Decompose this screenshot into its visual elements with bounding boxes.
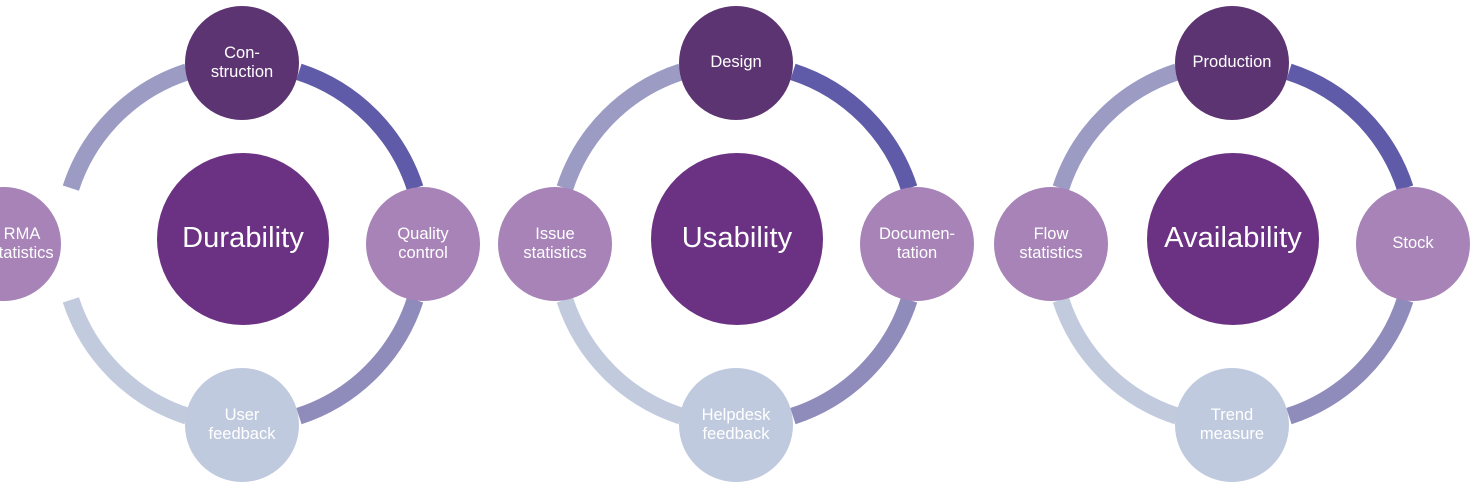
- satellite-circle-right[interactable]: Stock: [1356, 187, 1470, 301]
- bottom-left-arc: [1061, 300, 1177, 416]
- bottom-right-arc: [1289, 300, 1405, 416]
- satellite-circle-label: Production: [1189, 53, 1276, 72]
- satellite-circle-label: Quality control: [393, 225, 452, 263]
- satellite-circle-label: Trend measure: [1196, 406, 1268, 444]
- bottom-left-arc: [565, 300, 681, 416]
- satellite-circle-label: User feedback: [205, 406, 280, 444]
- core-circle-availability[interactable]: Availability: [1147, 153, 1319, 325]
- satellite-circle-top[interactable]: Con- struction: [185, 6, 299, 120]
- satellite-circle-bottom[interactable]: User feedback: [185, 368, 299, 482]
- satellite-circle-left[interactable]: Flow statistics: [994, 187, 1108, 301]
- core-circle-label: Availability: [1160, 222, 1306, 256]
- satellite-circle-label: Helpdesk feedback: [698, 406, 775, 444]
- satellite-circle-label: RMA statistics: [0, 225, 58, 263]
- satellite-circle-bottom[interactable]: Helpdesk feedback: [679, 368, 793, 482]
- top-left-arc: [1061, 72, 1177, 188]
- top-right-arc: [299, 72, 415, 188]
- top-right-arc: [793, 72, 909, 188]
- satellite-circle-label: Con- struction: [207, 44, 277, 82]
- satellite-circle-top[interactable]: Production: [1175, 6, 1289, 120]
- satellite-circle-right[interactable]: Quality control: [366, 187, 480, 301]
- satellite-circle-label: Flow statistics: [1015, 225, 1086, 263]
- top-left-arc: [71, 72, 187, 188]
- core-circle-usability[interactable]: Usability: [651, 153, 823, 325]
- bottom-left-arc: [71, 300, 187, 416]
- satellite-circle-top[interactable]: Design: [679, 6, 793, 120]
- bottom-right-arc: [299, 300, 415, 416]
- cluster-usability: UsabilityDesignDocumen- tationHelpdesk f…: [494, 0, 986, 491]
- satellite-circle-label: Issue statistics: [519, 225, 590, 263]
- satellite-circle-left[interactable]: Issue statistics: [498, 187, 612, 301]
- core-circle-label: Durability: [178, 222, 308, 256]
- top-left-arc: [565, 72, 681, 188]
- satellite-circle-right[interactable]: Documen- tation: [860, 187, 974, 301]
- bottom-right-arc: [793, 300, 909, 416]
- satellite-circle-bottom[interactable]: Trend measure: [1175, 368, 1289, 482]
- top-right-arc: [1289, 72, 1405, 188]
- cluster-durability: DurabilityCon- structionQuality controlU…: [0, 0, 492, 491]
- cluster-availability: AvailabilityProductionStockTrend measure…: [990, 0, 1478, 491]
- satellite-circle-label: Documen- tation: [875, 225, 959, 263]
- satellite-circle-label: Stock: [1388, 234, 1437, 253]
- diagram-canvas: DurabilityCon- structionQuality controlU…: [0, 0, 1478, 491]
- satellite-circle-label: Design: [706, 53, 765, 72]
- core-circle-label: Usability: [678, 222, 797, 256]
- core-circle-durability[interactable]: Durability: [157, 153, 329, 325]
